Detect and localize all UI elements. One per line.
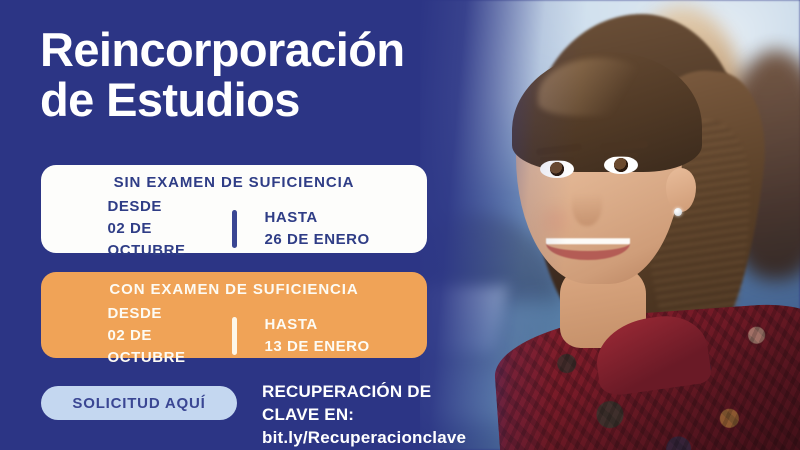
page-title: Reincorporación de Estudios: [40, 25, 470, 126]
card-con-examen-to: HASTA 13 DE ENERO: [237, 314, 389, 358]
password-recovery-link[interactable]: bit.ly/Recuperacionclave: [262, 428, 466, 447]
content-area: Reincorporación de Estudios SIN EXAMEN D…: [0, 0, 470, 450]
card-con-examen-heading: CON EXAMEN DE SUFICIENCIA: [41, 281, 427, 298]
from-label: DESDE: [108, 196, 232, 218]
to-value: 26 DE ENERO: [265, 229, 389, 251]
solicitud-aqui-button[interactable]: SOLICITUD AQUÍ: [41, 386, 237, 420]
card-con-examen-from: DESDE 02 DE OCTUBRE: [80, 303, 232, 368]
from-label: DESDE: [108, 303, 232, 325]
card-sin-examen-from: DESDE 02 DE OCTUBRE: [80, 196, 232, 261]
from-value: 02 DE OCTUBRE: [108, 218, 232, 262]
photo-gradient-overlay: [420, 0, 800, 450]
from-value: 02 DE OCTUBRE: [108, 325, 232, 369]
to-label: HASTA: [265, 207, 389, 229]
card-sin-examen-dates: DESDE 02 DE OCTUBRE HASTA 26 DE ENERO: [41, 196, 427, 261]
card-con-examen-dates: DESDE 02 DE OCTUBRE HASTA 13 DE ENERO: [41, 303, 427, 368]
student-photo: [420, 0, 800, 450]
card-sin-examen: SIN EXAMEN DE SUFICIENCIA DESDE 02 DE OC…: [41, 165, 427, 253]
to-value: 13 DE ENERO: [265, 336, 389, 358]
password-recovery-label: RECUPERACIÓN DE CLAVE EN:: [262, 382, 431, 424]
password-recovery-info: RECUPERACIÓN DE CLAVE EN: bit.ly/Recuper…: [262, 381, 470, 449]
card-sin-examen-to: HASTA 26 DE ENERO: [237, 207, 389, 251]
title-line-1: Reincorporación: [40, 23, 404, 76]
title-line-2: de Estudios: [40, 73, 300, 126]
card-con-examen: CON EXAMEN DE SUFICIENCIA DESDE 02 DE OC…: [41, 272, 427, 358]
to-label: HASTA: [265, 314, 389, 336]
card-sin-examen-heading: SIN EXAMEN DE SUFICIENCIA: [41, 174, 427, 191]
promotional-banner: Reincorporación de Estudios SIN EXAMEN D…: [0, 0, 800, 450]
